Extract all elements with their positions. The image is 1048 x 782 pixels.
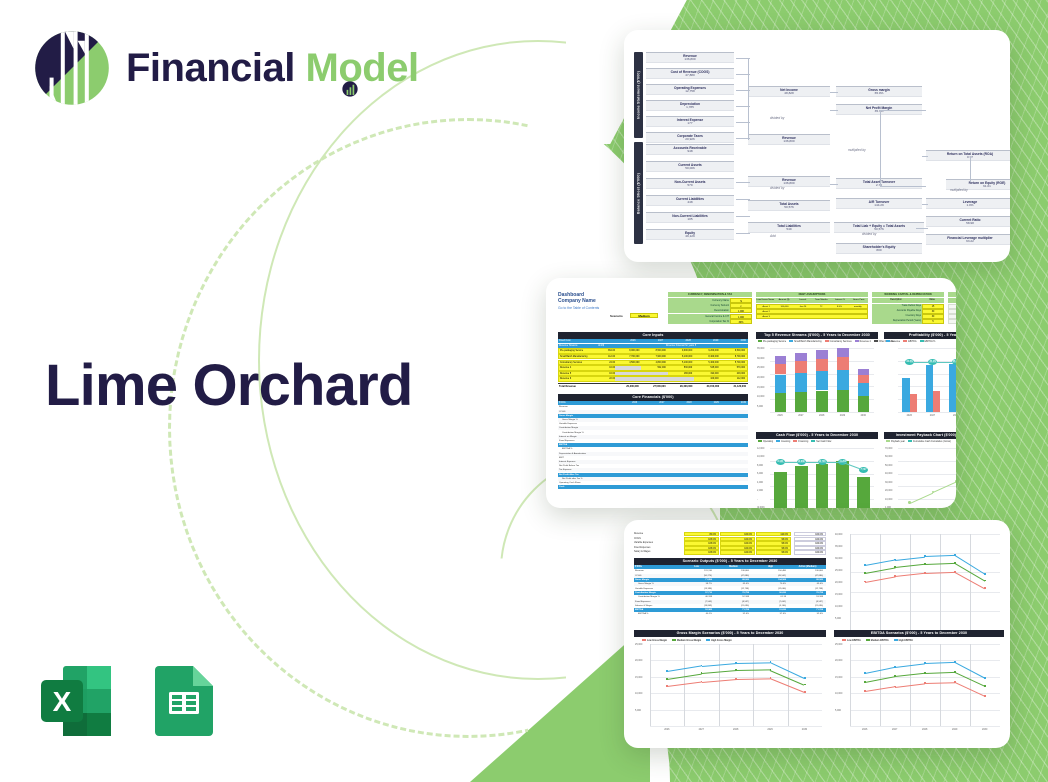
scenario-row-10: EBITDA %40.1%52.0%57.0%52.0%	[634, 612, 826, 616]
scenario-point-2-1-4	[984, 685, 986, 687]
scenario-point-2-2-4	[984, 677, 986, 679]
chart-bar-0-1-2	[795, 361, 807, 372]
revenue-stream-val-5-4: 112,000	[721, 377, 747, 380]
scenario-point-0-0-2	[924, 572, 926, 574]
dupont-total-assets: Total Assets50,576	[748, 200, 830, 211]
chart-ylabel-3-4: 30,000	[885, 481, 892, 484]
chart-legend-swatch-2-0	[758, 440, 762, 442]
dupont-connector-7	[736, 182, 750, 183]
dupont-liab-equity-assets: Total Liab + Equity = Total Assets50,576	[834, 222, 924, 233]
dupont-current-ratio: Current Ratio58.98	[926, 216, 1010, 227]
chart-xlabel-0-0: 2026	[777, 414, 782, 417]
revenue-stream-val-4-1	[641, 372, 667, 375]
scenario-chart-legend-1: Low Gross MarginMedium Gross MarginHigh …	[642, 639, 737, 642]
chart-legend-swatch-2-2	[793, 440, 797, 442]
scenario-selector[interactable]: Medium	[630, 313, 658, 318]
dupont-balance-item-5-value: 49,129	[685, 235, 694, 239]
revenue-stream-row-0[interactable]: Pre-packaging Service364.008,000,0008,50…	[558, 348, 748, 353]
dupont-roa: Return on Total Assets (ROA)0.97	[926, 150, 1010, 161]
scenario-point-1-1-0	[666, 678, 668, 680]
chart-legend-item-0-3: Revenue 4	[855, 340, 871, 344]
scenario-top-active-4: 100.0%	[794, 550, 826, 554]
dupont-income-item-1-value: 47,880	[685, 74, 694, 78]
scenario-point-2-2-3	[954, 661, 956, 663]
chart-ylabel-2-1: 10,000	[757, 455, 764, 458]
revenue-stream-val-2-3: 5,400,000	[694, 361, 720, 364]
scenario-xlabel-1-3: 2029	[767, 728, 772, 731]
revenue-stream-val-1-1: 7,900,000	[641, 355, 667, 358]
chart-bar-1-0-0	[902, 378, 909, 412]
total-revenue-row: Total Revenue20,200,00027,500,00028,400,…	[558, 383, 748, 388]
scenario-ylabel-1-3: 10,000	[635, 692, 642, 695]
dupont-gross-margin: Gross margin65.0%	[836, 86, 922, 97]
scenario-analysis-screenshot[interactable]: Revenue80.0%100.0%110.0%100.0%COGS105.0%…	[624, 520, 1010, 748]
scenario-point-1-2-0	[666, 670, 668, 672]
dupont-connector-16	[880, 110, 881, 186]
dupont-connector-21	[916, 228, 928, 229]
revenue-stream-row-4[interactable]: Revenue 516.00186,000194,000203,000	[558, 371, 748, 376]
chart-ylabel-3-3: 40,000	[885, 472, 892, 475]
scenario-point-2-2-2	[924, 662, 926, 664]
revenue-stream-row-1[interactable]: Small Batch Manufacturing112.007,700,000…	[558, 354, 748, 359]
core-financials-cell-19-0	[612, 485, 639, 489]
revenue-stream-val-5-3: 100,000	[694, 377, 720, 380]
chart-ylabel-0-0: 35,000	[757, 347, 764, 350]
chart-xlabel-0-4: 2030	[861, 414, 866, 417]
chart-legend-swatch-0-0	[758, 340, 762, 342]
dashboard-company: Company Name	[558, 298, 599, 304]
dupont-balance-item-4: Non-Current Liabilities105	[646, 212, 734, 223]
chart-bar-0-0-2	[775, 364, 787, 375]
dupont-balance-item-3: Current Liabilities448	[646, 195, 734, 206]
chart-bar-0-1-0	[795, 392, 807, 412]
dashboard-title-block: DashboardCompany NameGo to the Table of …	[558, 292, 599, 310]
debt-cell-2-0: Asset 3	[757, 315, 775, 318]
chart-legend-item-2-3: Net Cash Flow	[811, 440, 831, 444]
scenario-legend-label-2-0: Low EBITDA	[847, 640, 861, 642]
chart-legend-label-2-2: Financing	[798, 441, 808, 443]
chart-legend-item-0-1: Small Batch Manufacturing	[789, 340, 821, 344]
dupont-connector-18	[880, 186, 926, 187]
chart-bar-0-4-0	[858, 396, 870, 412]
dupont-asset-turnover: Total Asset Turnover2.70	[836, 178, 922, 189]
scenario-point-0-1-0	[864, 572, 866, 574]
scenario-chart-header-2: EBITDA Scenarios ($'000) - 5 Years to De…	[834, 630, 1004, 637]
chart-legend-label-1-2: EBITDA %	[925, 341, 936, 343]
scenario-cell-10-1: 52.0%	[715, 612, 752, 616]
scenario-ylabel-2-2: 15,000	[835, 676, 842, 679]
mini-bar-chart-icon	[342, 62, 359, 79]
debt-cell-0-0: Asset 1	[757, 305, 775, 308]
scenario-table-title: Scenario Outputs ($'000) - 5 Years to De…	[634, 558, 826, 565]
dupont-net-income-value: 48,828	[784, 92, 793, 96]
chart-bar-0-0-0	[775, 393, 787, 412]
scenario-legend-item-2-1: Medium EBITDA	[866, 639, 889, 642]
dupont-income-item-0-value: 136,800	[684, 58, 695, 62]
scenario-point-1-0-3	[770, 677, 772, 679]
total-revenue-val-0: 20,200,000	[614, 384, 641, 388]
scenario-xlabel-2-1: 2027	[892, 728, 897, 731]
scenario-ylabel-0-0: 40,000	[835, 533, 842, 536]
revenue-stream-row-2[interactable]: Consultancy Services24.004,500,0004,800,…	[558, 360, 748, 365]
chart-bar-0-1-1	[795, 373, 807, 392]
revenue-stream-name-4: Revenue 5	[559, 372, 599, 375]
dupont-total-liabilities: Total Liabilities549	[748, 222, 830, 233]
scenario-top-cell-4-0[interactable]: 105.0%	[684, 550, 719, 554]
dupont-balance-item-3-value: 448	[687, 201, 692, 205]
dupont-analysis-screenshot[interactable]: Income Statement ($'000)Balance Sheet ($…	[624, 30, 1010, 262]
dupont-revenue-mid-value: 136,800	[783, 140, 794, 144]
core-inputs-sub-2: Revenue Forecast for years 5	[614, 344, 748, 348]
dupont-balance-item-1-value: 50,006	[685, 167, 694, 171]
chart-legend-item-2-1: Investing	[776, 440, 790, 444]
revenue-stream-val-4-2: 186,000	[668, 372, 694, 375]
revenue-stream-val-3-0	[615, 366, 641, 369]
scenario-ylabel-2-1: 20,000	[835, 659, 842, 662]
chart-legend-item-1-0: Revenue	[886, 340, 900, 344]
core-inputs-sub-0: Revenue Streams	[558, 344, 598, 348]
dupont-current-ratio-value: 58.98	[966, 222, 974, 226]
chart-bar-0-2-1	[816, 371, 828, 390]
revenue-stream-unit-3: 16.00	[599, 366, 615, 369]
debt-cell-0-4: 8.5%	[830, 305, 848, 308]
dupont-revenue-lower: Revenue136,800	[748, 176, 830, 187]
currency-row-value-4[interactable]: 30%	[730, 319, 752, 324]
scenario-point-0-0-4	[984, 587, 986, 589]
revenue-stream-val-0-1: 8,500,000	[641, 349, 667, 352]
chart-legend-label-3-0: Payback year	[891, 441, 905, 443]
wc-value-3[interactable]: 5	[922, 319, 944, 324]
chart-legend-swatch-0-4	[874, 340, 878, 342]
dupont-connector-19	[970, 156, 971, 182]
dupont-income-item-3: Depreciation1,785	[646, 100, 734, 111]
dupont-total-assets-value: 50,576	[784, 206, 793, 210]
scenario-line-seg-1-2-2	[736, 662, 770, 663]
scenario-body: Revenue80.0%100.0%110.0%100.0%COGS105.0%…	[630, 526, 1004, 742]
scenario-legend-swatch-1-0	[642, 639, 646, 641]
revenue-stream-val-0-2: 9,000,000	[668, 349, 694, 352]
km-header-0: KPI	[948, 298, 956, 303]
chart-line-seg-2-1	[801, 462, 822, 463]
scenario-top-cell-4-1[interactable]: 100.0%	[720, 550, 755, 554]
scenario-legend-label-2-2: High EBITDA	[899, 640, 913, 642]
page-title: Lime Orchard	[45, 352, 413, 419]
wc-table-header: DescriptionValue	[872, 298, 944, 303]
scenario-legend-item-1-2: High Gross Margin	[706, 639, 732, 642]
balance-sheet-band: Balance Sheet ($'000)	[634, 142, 643, 244]
km-label-3: Minimum Cash ($'000)	[948, 319, 956, 324]
chart-header-3: Investment Payback Chart ($'000) - 5 Yea…	[884, 432, 956, 439]
chart-ylabel-0-6: 5,000	[757, 405, 763, 408]
scenario-ylabel-0-5: 15,000	[835, 593, 842, 596]
chart-legend-item-3-1: Cumulative Cash Cumulative (Gross)	[908, 440, 951, 444]
brand-word-model-del: del	[362, 46, 418, 90]
chart-legend-swatch-3-1	[908, 440, 912, 442]
wc-label-3: Depreciation Period (Years)	[872, 319, 922, 324]
chart-line-seg-2-0	[780, 462, 801, 463]
dupont-operator-0: divided by	[770, 116, 784, 120]
dashboard-section-header-1: DEBT ASSUMPTIONS	[756, 292, 868, 297]
scenario-legend-swatch-2-1	[866, 639, 870, 641]
chart-bar-2-2-0	[816, 464, 829, 508]
scenario-point-2-2-0	[864, 672, 866, 674]
dupont-income-item-4-value: 177	[687, 122, 692, 126]
revenue-stream-val-1-2: 8,100,000	[668, 355, 694, 358]
brand-wordmark: Financial Model	[126, 46, 419, 91]
chart-bar-0-3-1	[837, 370, 849, 390]
scenario-legend-label-1-1: Medium Gross Margin	[677, 640, 701, 642]
scenario-ylabel-0-4: 20,000	[835, 581, 842, 584]
scenario-legend-swatch-2-0	[842, 639, 846, 641]
scenario-ylabel-0-6: 10,000	[835, 605, 842, 608]
scenario-point-2-0-0	[864, 690, 866, 692]
revenue-stream-row-5[interactable]: Revenue 622.00100,000112,000	[558, 376, 748, 381]
chart-legend-item-3-0: Payback year	[886, 440, 905, 444]
chart-ylabel-2-5: 2,000	[757, 489, 763, 492]
google-sheets-icon	[141, 658, 227, 744]
scenario-xlabel-1-2: 2028	[733, 728, 738, 731]
chart-line-seg-3-0-0	[909, 492, 932, 503]
chart-bar-0-0-3	[775, 356, 787, 364]
chart-ylabel-2-0: 12,000	[757, 447, 764, 450]
chart-ylabel-2-6: -	[757, 498, 758, 501]
revenue-stream-row-3[interactable]: Revenue 416.00502,000530,000545,000570,0…	[558, 365, 748, 370]
chart-bar-1-2-0	[949, 364, 956, 412]
dashboard-sheet: DashboardCompany NameGo to the Table of …	[546, 278, 956, 508]
chart-ylabel-0-5: 10,000	[757, 395, 764, 398]
chart-ylabel-0-2: 25,000	[757, 366, 764, 369]
chart-ylabel-2-7: (2,000)	[757, 506, 765, 508]
financial-dashboard-screenshot[interactable]: DashboardCompany NameGo to the Table of …	[546, 278, 956, 508]
core-financials-row-label-19: Cash	[558, 485, 612, 489]
dupont-income-item-2-value: 12,758	[685, 90, 694, 94]
dashboard-section-header-3: KEY METRICS	[948, 292, 956, 297]
debt-cell-1-3	[812, 310, 830, 313]
core-inputs-subheader: Revenue StreamsUnit/$Revenue Forecast fo…	[558, 344, 748, 348]
chart-bar-2-0-0	[774, 472, 787, 508]
dupont-shareholders-equity-value: 800	[876, 249, 881, 253]
chart-xlabel-0-2: 2028	[819, 414, 824, 417]
scenario-point-1-0-0	[666, 685, 668, 687]
scenario-legend-item-1-0: Low Gross Margin	[642, 639, 667, 642]
scenario-point-2-0-1	[894, 686, 896, 688]
chart-bar-0-3-3	[837, 348, 849, 357]
currency-row-label-4: Corporation Tax %	[668, 319, 730, 324]
scenario-legend-item-2-0: Low EBITDA	[842, 639, 861, 642]
debt-cell-1-0: Asset 2	[757, 310, 775, 313]
brand-word-model-o: o	[338, 46, 362, 91]
chart-legend-label-0-3: Revenue 4	[860, 341, 871, 343]
revenue-stream-val-1-0: 7,700,000	[615, 355, 641, 358]
scenario-ylabel-2-4: 5,000	[835, 709, 841, 712]
scenario-point-0-1-1	[894, 566, 896, 568]
scenario-point-1-2-3	[770, 661, 772, 663]
revenue-stream-val-3-4: 570,000	[721, 366, 747, 369]
dupont-income-item-5-value: 20,926	[685, 138, 694, 142]
scenario-xlabel-2-0: 2026	[862, 728, 867, 731]
scenario-point-1-2-2	[735, 662, 737, 664]
debt-cell-1-1	[775, 310, 793, 313]
chart-bar-2-4-0	[857, 477, 870, 508]
chart-bar-0-2-0	[816, 391, 828, 412]
revenue-stream-val-1-4: 8,700,000	[721, 355, 747, 358]
scenario-ylabel-1-4: 5,000	[635, 709, 641, 712]
scenario-legend-swatch-2-2	[894, 639, 898, 641]
core-financials-header: Core Financials ($'000)	[558, 394, 748, 401]
chart-bar-0-3-2	[837, 357, 849, 370]
total-revenue-val-1: 27,500,000	[641, 384, 668, 388]
scenario-point-0-1-2	[924, 563, 926, 565]
dupont-balance-item-0-value: 948	[687, 150, 692, 154]
chart-legend-swatch-1-2	[920, 340, 924, 342]
revenue-stream-name-5: Revenue 6	[559, 377, 599, 380]
dashboard-toc-link[interactable]: Go to the Table of Contents	[558, 306, 599, 310]
revenue-stream-val-4-0	[615, 372, 641, 375]
chart-legend-swatch-0-1	[789, 340, 793, 342]
dupont-liab-equity-assets-value: 50,576	[874, 228, 883, 232]
dupont-balance-item-5: Equity49,129	[646, 229, 734, 240]
core-inputs-header: Core Inputs	[558, 332, 748, 339]
revenue-stream-val-2-2: 5,100,000	[668, 361, 694, 364]
dupont-balance-item-1: Current Assets50,006	[646, 161, 734, 172]
chart-ylabel-0-1: 30,000	[757, 357, 764, 360]
wc-header-1: Value	[920, 298, 944, 303]
dupont-income-item-0: Revenue136,800	[646, 52, 734, 63]
chart-legend-1: RevenueEBITDAEBITDA %	[886, 340, 956, 344]
scenario-point-0-1-4	[984, 580, 986, 582]
dupont-connector-9	[736, 216, 750, 217]
chart-legend-item-2-2: Financing	[793, 440, 808, 444]
dupont-flm-value: 63.22	[966, 240, 974, 244]
dupont-connector-15	[922, 204, 928, 205]
core-financials-cell-19-1	[639, 485, 666, 489]
debt-row-2[interactable]: Asset 3	[756, 314, 868, 319]
km-table-header: KPIValue	[948, 298, 956, 303]
dupont-connector-10	[736, 233, 750, 234]
dashboard-section-header-2: WORKING CAPITAL & DEPRECIATION	[872, 292, 944, 297]
scenario-top-cell-4-2[interactable]: 95.0%	[756, 550, 791, 554]
dupont-balance-item-0: Accounts Receivable948	[646, 144, 734, 155]
chart-bar-2-1-0	[795, 466, 808, 508]
debt-header-3: Term Months	[812, 298, 831, 303]
dupont-connector-11	[830, 92, 838, 93]
scenario-cell-10-0: 40.1%	[678, 612, 715, 616]
dupont-income-item-5: Corporate Taxes20,926	[646, 132, 734, 143]
total-revenue-val-3: 30,150,000	[694, 384, 721, 388]
chart-ylabel-3-1: 60,000	[885, 455, 892, 458]
pie-bar-circle-logo-icon	[32, 28, 112, 108]
dupont-ar-turnover-value: 144.29	[874, 204, 883, 208]
scenario-ylabel-0-3: 25,000	[835, 569, 842, 572]
dupont-operator-1: divided by	[770, 186, 784, 190]
scenario-point-0-2-1	[894, 559, 896, 561]
chart-xlabel-1-0: 2026	[907, 414, 912, 417]
debt-cell-2-1	[775, 315, 793, 318]
svg-text:X: X	[53, 686, 72, 717]
chart-legend-label-2-0: Operating	[763, 441, 773, 443]
scenario-ylabel-0-1: 35,000	[835, 545, 842, 548]
scenario-xlabel-1-1: 2027	[699, 728, 704, 731]
chart-legend-item-0-2: Consultancy Services	[825, 340, 852, 344]
scenario-point-1-1-3	[770, 669, 772, 671]
scenario-point-0-2-3	[954, 554, 956, 556]
scenario-point-2-1-0	[864, 681, 866, 683]
chart-point-3-0-0	[908, 501, 910, 503]
scenario-ylabel-1-2: 15,000	[635, 676, 642, 679]
dupont-income-item-4: Interest Expense177	[646, 116, 734, 127]
revenue-stream-val-2-1: 4,800,000	[641, 361, 667, 364]
debt-cell-1-5	[849, 310, 867, 313]
chart-legend-swatch-2-3	[811, 440, 815, 442]
dupont-connector-14	[922, 156, 928, 157]
brand-word-model-m: M	[306, 46, 339, 90]
chart-xlabel-0-1: 2027	[798, 414, 803, 417]
chart-legend-label-3-1: Cumulative Cash Cumulative (Gross)	[913, 441, 951, 443]
chart-line-seg-2-2	[822, 462, 843, 463]
chart-legend-2: OperatingInvestingFinancingNet Cash Flow	[758, 440, 876, 444]
chart-ylabel-2-2: 8,000	[757, 464, 763, 467]
revenue-stream-unit-2: 24.00	[599, 361, 615, 364]
dupont-roe-value: 61.01	[983, 185, 991, 189]
dupont-operator-5: multiplied by	[950, 188, 968, 192]
scenario-point-0-0-0	[864, 581, 866, 583]
chart-bar-1-1-1	[933, 391, 940, 412]
dupont-revenue-mid: Revenue136,800	[748, 134, 830, 145]
dupont-gross-margin-value: 65.0%	[875, 92, 884, 96]
debt-header-2: Launch	[793, 298, 812, 303]
scenario-point-0-2-2	[924, 555, 926, 557]
chart-bar-0-4-1	[858, 383, 870, 396]
dupont-operator-4: multiplied by	[848, 148, 866, 152]
debt-cell-0-5: monthly	[849, 305, 867, 308]
total-revenue-val-4: 31,120,000	[721, 384, 748, 388]
chart-xlabel-0-3: 2029	[840, 414, 845, 417]
dupont-operator-3: Add	[770, 234, 776, 238]
scenario-cell-10-2: 57.0%	[752, 612, 789, 616]
debt-cell-0-1: 100,000	[775, 305, 793, 308]
scenario-legend-swatch-1-1	[672, 639, 676, 641]
debt-cell-0-3: 72	[812, 305, 830, 308]
revenue-stream-val-0-3: 9,200,000	[694, 349, 720, 352]
dupont-shareholders-equity: Shareholder's Equity800	[836, 243, 922, 254]
chart-legend-item-1-2: EBITDA %	[920, 340, 936, 344]
scenario-legend-item-1-1: Medium Gross Margin	[672, 639, 701, 642]
chart-legend-swatch-0-3	[855, 340, 859, 342]
dashboard-body: DashboardCompany NameGo to the Table of …	[552, 284, 950, 502]
scenario-xlabel-2-3: 2029	[952, 728, 957, 731]
app-icon-row: X	[33, 658, 227, 744]
scenario-point-1-2-1	[701, 665, 703, 667]
scenario-ylabel-1-1: 20,000	[635, 659, 642, 662]
revenue-stream-unit-5: 22.00	[599, 377, 615, 380]
core-financials-cell-19-3	[694, 485, 721, 489]
chart-ylabel-2-4: 4,000	[757, 481, 763, 484]
debt-cell-1-4	[830, 310, 848, 313]
chart-legend-item-0-0: Pre-packaging Service	[758, 340, 786, 344]
chart-legend-label-1-1: EBITDA	[908, 341, 916, 343]
dupont-sheet: Income Statement ($'000)Balance Sheet ($…	[624, 30, 1010, 262]
scenario-legend-swatch-1-2	[706, 639, 710, 641]
chart-legend-label-2-3: Net Cash Flow	[816, 441, 831, 443]
revenue-stream-val-3-2: 530,000	[668, 366, 694, 369]
chart-legend-0: Pre-packaging ServiceSmall Batch Manufac…	[758, 340, 876, 344]
chart-bar-0-4-2	[858, 375, 870, 383]
scenario-ylabel-2-0: 25,000	[835, 643, 842, 646]
chart-legend-item-2-0: Operating	[758, 440, 773, 444]
chart-ylabel-0-3: 20,000	[757, 376, 764, 379]
revenue-stream-unit-0: 364.00	[599, 349, 615, 352]
scenario-xlabel-2-4: 2030	[982, 728, 987, 731]
